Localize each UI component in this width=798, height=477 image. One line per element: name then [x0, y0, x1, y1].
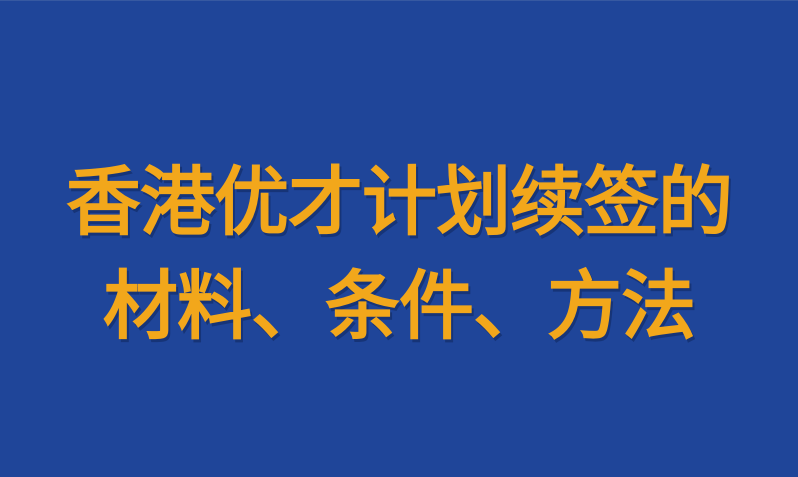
- top-edge-hairline: [0, 0, 798, 1]
- title-banner: 香港优才计划续签的 材料、条件、方法: [0, 0, 798, 477]
- title-line-primary: 香港优才计划续签的: [66, 150, 732, 254]
- title-block: 香港优才计划续签的 材料、条件、方法: [0, 150, 798, 358]
- title-line-secondary: 材料、条件、方法: [103, 254, 695, 358]
